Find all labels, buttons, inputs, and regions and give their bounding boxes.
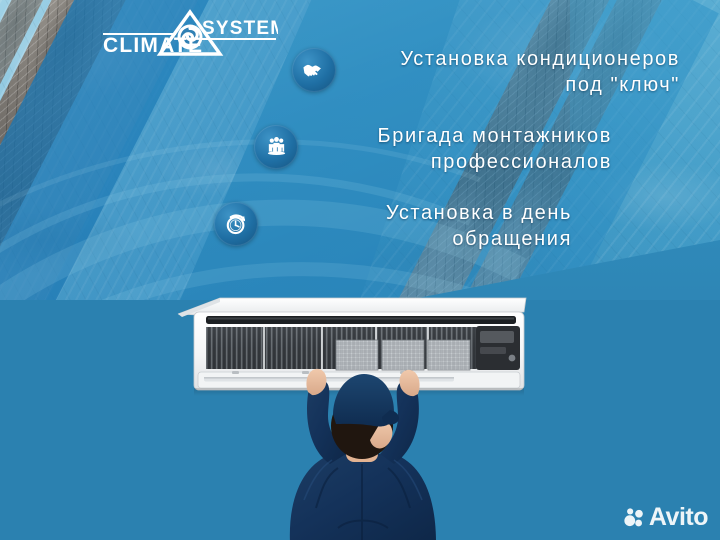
ac-intake-slot <box>206 316 516 324</box>
feature-item: Установка в день обращения <box>0 200 720 253</box>
ac-filter-panels <box>336 340 470 370</box>
clock-arrow-icon <box>214 202 258 246</box>
feature-item: Бригада монтажников профессионалов <box>0 123 720 176</box>
advertisement-banner: CLIMATE SYSTEMS Установка кондиционеров … <box>0 0 720 540</box>
feature-list: Установка кондиционеров под "ключ" Брига… <box>0 46 720 276</box>
team-people-icon <box>254 125 298 169</box>
handshake-icon <box>292 48 336 92</box>
logo-text-systems: SYSTEMS <box>202 18 278 39</box>
avito-watermark: Avito <box>624 505 708 530</box>
feature-item: Установка кондиционеров под "ключ" <box>0 46 720 99</box>
technician-figure <box>246 368 476 540</box>
feature-label: Установка кондиционеров под "ключ" <box>350 46 680 99</box>
feature-label: Бригада монтажников профессионалов <box>312 123 612 176</box>
feature-label: Установка в день обращения <box>272 200 572 253</box>
avito-dots-icon <box>624 508 644 528</box>
avito-label: Avito <box>649 505 708 530</box>
